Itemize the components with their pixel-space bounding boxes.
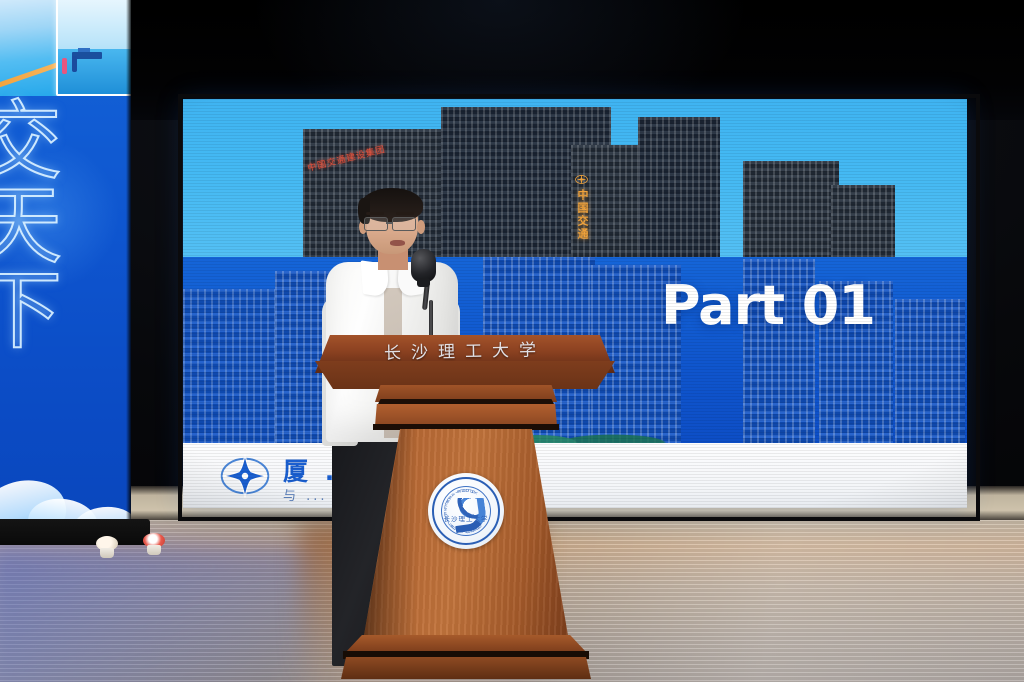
building-fg-far-left [183, 289, 279, 445]
banner-illustration [0, 0, 131, 96]
banner-base-stand [0, 519, 150, 545]
potted-flower-red [143, 533, 165, 555]
banner-inset-card [56, 0, 131, 96]
lectern-top-apron [315, 361, 615, 389]
speaker-brow-left [366, 212, 384, 215]
speaker-mouth [390, 240, 405, 246]
banner-wave-art [0, 451, 131, 525]
potted-flower-white [96, 536, 118, 558]
microphone-clip [417, 278, 430, 287]
eyeglasses-icon [364, 217, 420, 230]
banner-slogan: 交 天 下 [0, 100, 131, 430]
lectern-neck-lower [375, 404, 557, 426]
emblem-en-text: CHANGSHA UNIVERSITY OF SCIENCE & TECHNOL… [442, 487, 490, 535]
banner-glyph-1: 交 [0, 100, 62, 184]
banner-figure-red [62, 58, 67, 74]
slide-section-label: Part 01 [661, 274, 875, 337]
building-fg-right-c [895, 299, 965, 445]
banner-glyph-2: 天 [0, 184, 62, 268]
tower-vertical-sign: 中国交通 [574, 189, 590, 241]
floor-reflection-blue [0, 540, 310, 682]
banner-right-edge [126, 0, 131, 525]
cccc-logo-tower-icon [575, 173, 588, 186]
cccc-interchange-logo-icon [219, 451, 271, 501]
banner-figure-blue [72, 56, 77, 72]
university-emblem: 长沙理工大学 CHANGSHA UNIVERSITY OF SCIENCE & … [428, 473, 504, 549]
wooden-lectern: 长沙理工大学 长沙理工大学 CHANGSHA UNIVERSITY OF SCI… [315, 335, 615, 682]
speaker-brow-right [396, 212, 414, 215]
lectern-base [341, 657, 591, 679]
left-led-banner: 交 天 下 [0, 0, 131, 525]
lectern-body-shadow [363, 429, 417, 641]
stage-photo: 交 天 下 中国交通建设集团 中国交通 [0, 0, 1024, 682]
banner-glyph-3: 下 [0, 269, 62, 353]
